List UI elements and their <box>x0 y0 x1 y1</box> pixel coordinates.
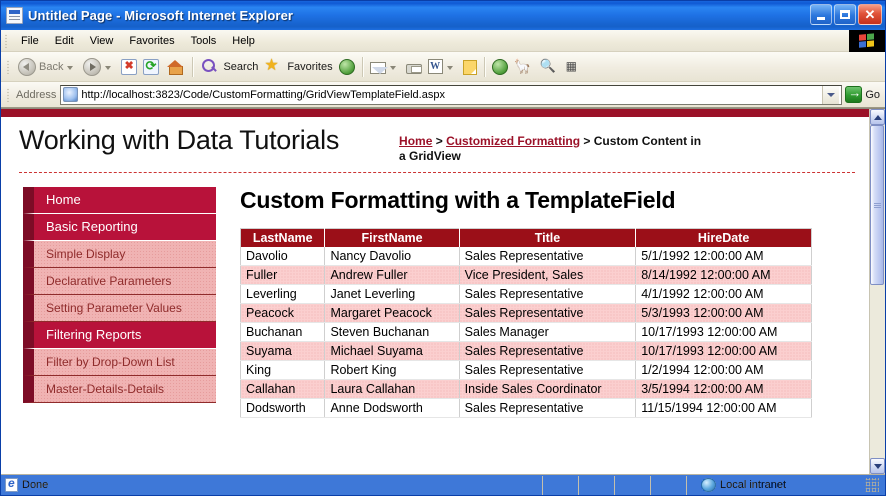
media-button[interactable]: 🦙 <box>511 55 537 79</box>
table-cell-hiredate: 3/5/1994 12:00:00 AM <box>636 380 812 399</box>
sidebar-item-filter-by-drop-down-list[interactable]: Filter by Drop-Down List <box>23 349 216 376</box>
table-row: DavolioNancy DavolioSales Representative… <box>241 247 812 266</box>
table-cell-hiredate: 11/15/1994 12:00:00 AM <box>636 399 812 418</box>
windows-flag-icon <box>859 33 876 48</box>
go-button[interactable]: Go <box>842 85 885 105</box>
windows-flag-logo[interactable] <box>849 30 885 52</box>
word-edit-icon: W <box>428 59 443 74</box>
back-dropdown-icon[interactable] <box>67 66 73 70</box>
window-controls: ✕ <box>810 4 882 25</box>
sidebar-item-basic-reporting[interactable]: Basic Reporting <box>23 214 216 241</box>
maximize-button[interactable] <box>834 4 856 25</box>
mail-icon <box>370 62 386 74</box>
refresh-icon <box>143 59 159 75</box>
menu-item-edit[interactable]: Edit <box>47 33 82 49</box>
toolbar-separator <box>192 57 193 77</box>
notes-button[interactable] <box>460 55 480 79</box>
breadcrumb-link-section[interactable]: Customized Formatting <box>446 134 580 148</box>
page-viewport: Working with Data Tutorials Home > Custo… <box>1 108 885 474</box>
address-bar: Address http://localhost:3823/Code/Custo… <box>1 82 885 108</box>
column-header-lastname: LastName <box>241 229 325 248</box>
sidebar-item-filtering-reports[interactable]: Filtering Reports <box>23 322 216 349</box>
encoding-icon: ▦ <box>566 57 586 77</box>
table-body: DavolioNancy DavolioSales Representative… <box>241 247 812 418</box>
toolbar-separator-3 <box>484 57 485 77</box>
table-row: KingRobert KingSales Representative1/2/1… <box>241 361 812 380</box>
table-row: BuchananSteven BuchananSales Manager10/1… <box>241 323 812 342</box>
page-title: Custom Formatting with a TemplateField <box>240 187 851 214</box>
sidebar-item-simple-display[interactable]: Simple Display <box>23 241 216 268</box>
table-cell-title: Sales Representative <box>459 361 636 380</box>
title-bar: Untitled Page - Microsoft Internet Explo… <box>1 1 885 30</box>
table-row: PeacockMargaret PeacockSales Representat… <box>241 304 812 323</box>
ie-page-icon <box>63 87 78 102</box>
menu-item-view[interactable]: View <box>82 33 122 49</box>
minimize-button[interactable] <box>810 4 832 25</box>
table-header-row: LastName FirstName Title HireDate <box>241 229 812 248</box>
column-header-firstname: FirstName <box>325 229 459 248</box>
research-icon: 🔍 <box>540 57 560 77</box>
edit-dropdown-icon[interactable] <box>447 66 453 70</box>
edit-word-button[interactable]: W <box>425 55 460 79</box>
document-icon <box>5 478 18 492</box>
table-cell-hiredate: 5/1/1992 12:00:00 AM <box>636 247 812 266</box>
table-cell-lastname: Callahan <box>241 380 325 399</box>
address-dropdown-button[interactable] <box>822 86 839 104</box>
back-icon <box>18 58 36 76</box>
table-cell-title: Sales Manager <box>459 323 636 342</box>
address-url-text: http://localhost:3823/Code/CustomFormatt… <box>81 89 822 101</box>
breadcrumb-link-home[interactable]: Home <box>399 134 432 148</box>
status-bar: Done Local intranet <box>1 474 885 495</box>
table-cell-lastname: Suyama <box>241 342 325 361</box>
table-cell-hiredate: 5/3/1993 12:00:00 AM <box>636 304 812 323</box>
table-cell-lastname: Fuller <box>241 266 325 285</box>
minimize-icon <box>817 17 825 20</box>
intranet-globe-icon <box>701 478 716 492</box>
menu-item-help[interactable]: Help <box>224 33 263 49</box>
close-button[interactable]: ✕ <box>858 4 882 25</box>
search-icon <box>200 57 220 77</box>
column-header-title: Title <box>459 229 636 248</box>
favorites-star-icon: ★ <box>264 57 284 77</box>
table-cell-lastname: Buchanan <box>241 323 325 342</box>
table-cell-hiredate: 10/17/1993 12:00:00 AM <box>636 323 812 342</box>
status-pane-1 <box>543 476 579 495</box>
stop-icon <box>121 59 137 75</box>
site-title: Working with Data Tutorials <box>19 123 339 156</box>
table-cell-lastname: Peacock <box>241 304 325 323</box>
table-cell-hiredate: 8/14/1992 12:00:00 AM <box>636 266 812 285</box>
table-row: LeverlingJanet LeverlingSales Representa… <box>241 285 812 304</box>
table-cell-firstname: Janet Leverling <box>325 285 459 304</box>
table-cell-firstname: Robert King <box>325 361 459 380</box>
sidebar-nav: Home Basic Reporting Simple Display Decl… <box>1 187 216 418</box>
back-label: Back <box>39 61 63 73</box>
breadcrumb-sep-1: > <box>432 134 446 148</box>
research-button[interactable]: 🔍 <box>537 55 563 79</box>
table-cell-title: Sales Representative <box>459 247 636 266</box>
search-label: Search <box>223 61 258 73</box>
table-cell-firstname: Laura Callahan <box>325 380 459 399</box>
resize-grip[interactable] <box>865 478 879 492</box>
table-cell-title: Sales Representative <box>459 304 636 323</box>
encoding-button[interactable]: ▦ <box>563 55 589 79</box>
table-cell-hiredate: 1/2/1994 12:00:00 AM <box>636 361 812 380</box>
scrollbar-track[interactable] <box>870 125 885 458</box>
table-cell-hiredate: 4/1/1992 12:00:00 AM <box>636 285 812 304</box>
table-cell-lastname: Leverling <box>241 285 325 304</box>
table-row: SuyamaMichael SuyamaSales Representative… <box>241 342 812 361</box>
forward-dropdown-icon[interactable] <box>105 66 111 70</box>
breadcrumb: Home > Customized Formatting > Custom Co… <box>399 123 709 164</box>
table-cell-hiredate: 10/17/1993 12:00:00 AM <box>636 342 812 361</box>
back-button[interactable]: Back <box>15 55 80 79</box>
sidebar-item-master-details-details[interactable]: Master-Details-Details <box>23 376 216 403</box>
table-cell-title: Sales Representative <box>459 399 636 418</box>
history-globe-icon <box>339 59 355 75</box>
close-icon: ✕ <box>865 8 876 21</box>
window-title: Untitled Page - Microsoft Internet Explo… <box>28 8 293 23</box>
stop-button[interactable] <box>118 55 140 79</box>
table-row: FullerAndrew FullerVice President, Sales… <box>241 266 812 285</box>
status-pane-3 <box>615 476 651 495</box>
menu-grip[interactable] <box>3 33 10 49</box>
security-zone-pane[interactable]: Local intranet <box>687 476 885 495</box>
page-icon <box>6 7 23 24</box>
table-cell-title: Sales Representative <box>459 285 636 304</box>
go-arrow-icon <box>845 86 862 103</box>
table-cell-title: Sales Representative <box>459 342 636 361</box>
media-icon: 🦙 <box>514 57 534 77</box>
status-message-pane: Done <box>1 476 543 495</box>
address-grip[interactable] <box>5 87 12 103</box>
mail-button[interactable] <box>367 55 403 79</box>
print-icon <box>406 64 422 74</box>
page-header: Working with Data Tutorials Home > Custo… <box>1 117 869 165</box>
go-label: Go <box>865 89 880 101</box>
sidebar-item-declarative-parameters[interactable]: Declarative Parameters <box>23 268 216 295</box>
forward-icon <box>83 58 101 76</box>
page-top-band <box>1 109 869 117</box>
page-body: Home Basic Reporting Simple Display Decl… <box>1 173 869 418</box>
address-label: Address <box>16 89 56 101</box>
toolbar: Back Search ★ Favorites W <box>1 52 885 82</box>
vertical-scrollbar[interactable] <box>869 109 885 474</box>
toolbar-separator-2 <box>362 57 363 77</box>
table-cell-title: Inside Sales Coordinator <box>459 380 636 399</box>
print-button[interactable] <box>403 55 425 79</box>
menu-item-favorites[interactable]: Favorites <box>121 33 182 49</box>
column-header-hiredate: HireDate <box>636 229 812 248</box>
table-cell-lastname: King <box>241 361 325 380</box>
menu-bar: File Edit View Favorites Tools Help <box>1 30 885 52</box>
table-cell-firstname: Steven Buchanan <box>325 323 459 342</box>
status-text: Done <box>22 479 48 491</box>
menu-item-tools[interactable]: Tools <box>183 33 225 49</box>
home-button[interactable] <box>162 55 188 79</box>
toolbar-grip[interactable] <box>5 59 12 75</box>
table-cell-firstname: Anne Dodsworth <box>325 399 459 418</box>
table-cell-firstname: Andrew Fuller <box>325 266 459 285</box>
search-button[interactable]: Search <box>197 55 261 79</box>
breadcrumb-sep-2: > <box>580 134 594 148</box>
table-cell-lastname: Dodsworth <box>241 399 325 418</box>
messenger-button[interactable] <box>489 55 511 79</box>
maximize-icon <box>840 10 850 19</box>
history-button[interactable] <box>336 55 358 79</box>
address-input[interactable]: http://localhost:3823/Code/CustomFormatt… <box>60 85 842 105</box>
table-cell-title: Vice President, Sales <box>459 266 636 285</box>
table-cell-firstname: Nancy Davolio <box>325 247 459 266</box>
sidebar-item-setting-parameter-values[interactable]: Setting Parameter Values <box>23 295 216 322</box>
home-icon <box>165 57 185 77</box>
table-cell-firstname: Margaret Peacock <box>325 304 459 323</box>
favorites-label: Favorites <box>287 61 332 73</box>
main-content: Custom Formatting with a TemplateField L… <box>216 187 869 418</box>
browser-window: Untitled Page - Microsoft Internet Explo… <box>0 0 886 496</box>
sidebar-item-home[interactable]: Home <box>23 187 216 214</box>
scroll-up-button[interactable] <box>870 109 885 125</box>
refresh-button[interactable] <box>140 55 162 79</box>
notes-icon <box>463 60 477 75</box>
security-zone-text: Local intranet <box>720 479 786 491</box>
web-page: Working with Data Tutorials Home > Custo… <box>1 109 869 474</box>
status-pane-4 <box>651 476 687 495</box>
messenger-icon <box>492 59 508 75</box>
favorites-button[interactable]: ★ Favorites <box>261 55 335 79</box>
scroll-down-button[interactable] <box>870 458 885 474</box>
table-row: DodsworthAnne DodsworthSales Representat… <box>241 399 812 418</box>
table-cell-firstname: Michael Suyama <box>325 342 459 361</box>
table-row: CallahanLaura CallahanInside Sales Coord… <box>241 380 812 399</box>
table-cell-lastname: Davolio <box>241 247 325 266</box>
employees-gridview: LastName FirstName Title HireDate Davoli… <box>240 228 812 418</box>
status-pane-2 <box>579 476 615 495</box>
menu-item-file[interactable]: File <box>13 33 47 49</box>
mail-dropdown-icon[interactable] <box>390 66 396 70</box>
forward-button[interactable] <box>80 55 118 79</box>
scrollbar-thumb[interactable] <box>870 125 884 285</box>
